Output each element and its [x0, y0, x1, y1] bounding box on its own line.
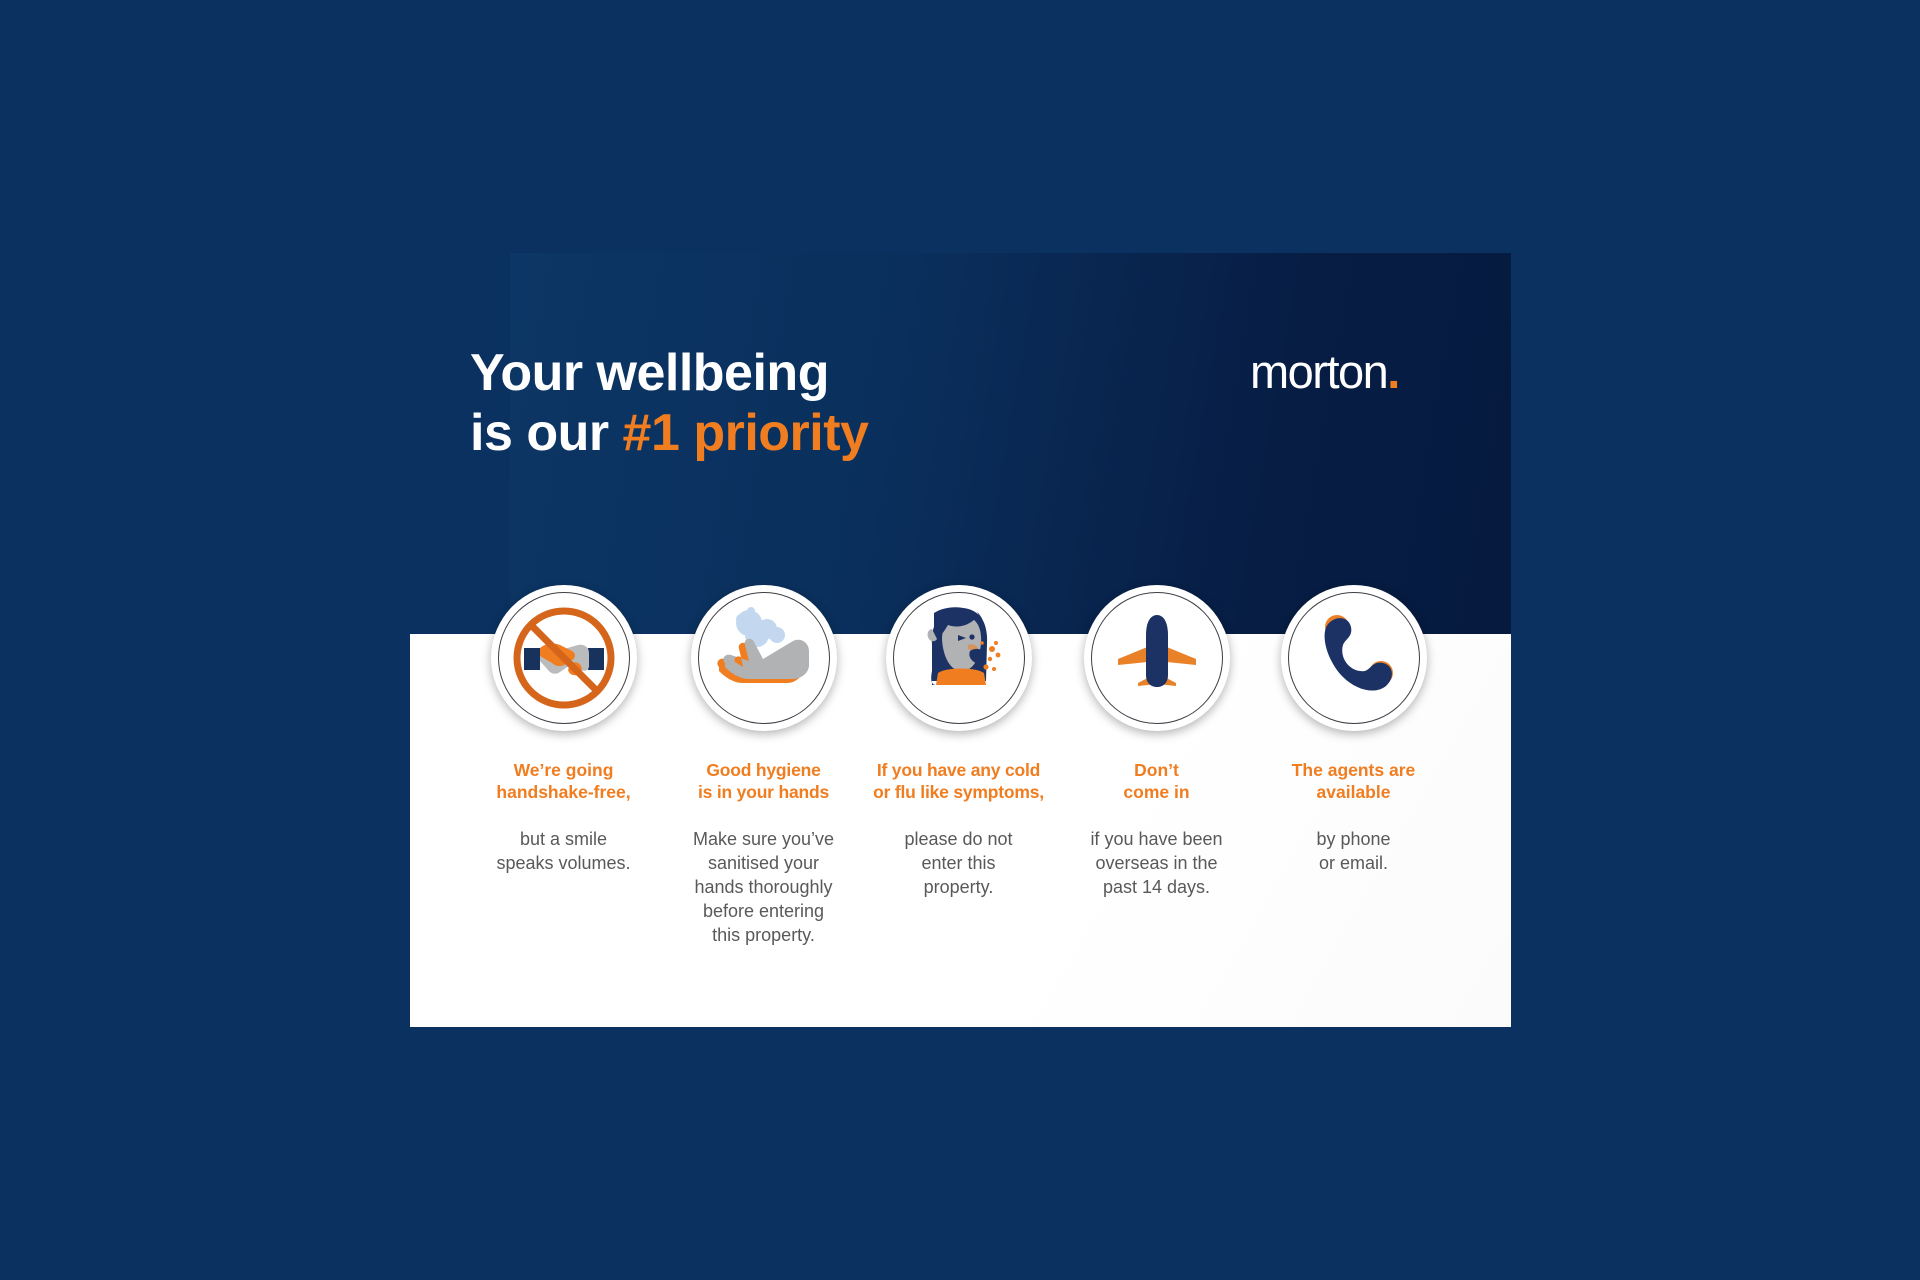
advice-body-line: past 14 days.	[1058, 876, 1255, 900]
icon-badge	[1281, 585, 1427, 731]
advice-body-line: before entering	[665, 900, 862, 924]
phone-handset-icon	[1281, 585, 1427, 731]
wellbeing-poster: Your wellbeing is our #1 priority morton…	[410, 253, 1511, 1027]
advice-item-travel: Don’t come in if you have been overseas …	[1058, 585, 1255, 900]
advice-title: The agents are available	[1255, 759, 1452, 804]
icon-badge	[1084, 585, 1230, 731]
advice-title: If you have any cold or flu like symptom…	[860, 759, 1057, 804]
advice-title-line: We’re going	[465, 759, 662, 781]
icon-badge	[691, 585, 837, 731]
advice-title-line: come in	[1058, 781, 1255, 803]
advice-item-handshake: We’re going handshake-free, but a smile …	[465, 585, 662, 876]
advice-title-line: Don’t	[1058, 759, 1255, 781]
advice-body-line: please do not	[860, 828, 1057, 852]
advice-body-line: or email.	[1255, 852, 1452, 876]
advice-body: but a smile speaks volumes.	[465, 828, 662, 876]
advice-title: Don’t come in	[1058, 759, 1255, 804]
advice-title-line: If you have any cold	[860, 759, 1057, 781]
advice-body: by phone or email.	[1255, 828, 1452, 876]
advice-body: if you have been overseas in the past 14…	[1058, 828, 1255, 900]
airplane-icon	[1084, 585, 1230, 731]
advice-title-line: handshake-free,	[465, 781, 662, 803]
advice-title: We’re going handshake-free,	[465, 759, 662, 804]
advice-items-row: We’re going handshake-free, but a smile …	[410, 253, 1511, 1027]
poster-canvas: Your wellbeing is our #1 priority morton…	[0, 0, 1920, 1280]
advice-title-line: available	[1255, 781, 1452, 803]
sneezing-person-icon	[886, 585, 1032, 731]
advice-body-line: this property.	[665, 924, 862, 948]
icon-badge	[886, 585, 1032, 731]
advice-title-line: or flu like symptoms,	[860, 781, 1057, 803]
no-handshake-icon	[491, 585, 637, 731]
advice-body-line: sanitised your	[665, 852, 862, 876]
advice-item-hygiene: Good hygiene is in your hands Make sure …	[665, 585, 862, 947]
advice-item-symptoms: If you have any cold or flu like symptom…	[860, 585, 1057, 900]
advice-title: Good hygiene is in your hands	[665, 759, 862, 804]
advice-body-line: by phone	[1255, 828, 1452, 852]
advice-body-line: but a smile	[465, 828, 662, 852]
advice-body-line: if you have been	[1058, 828, 1255, 852]
advice-body-line: Make sure you’ve	[665, 828, 862, 852]
advice-body: Make sure you’ve sanitised your hands th…	[665, 828, 862, 948]
advice-item-contact: The agents are available by phone or ema…	[1255, 585, 1452, 876]
advice-body-line: overseas in the	[1058, 852, 1255, 876]
hand-washing-icon	[691, 585, 837, 731]
advice-title-line: Good hygiene	[665, 759, 862, 781]
advice-body-line: property.	[860, 876, 1057, 900]
advice-body: please do not enter this property.	[860, 828, 1057, 900]
advice-body-line: speaks volumes.	[465, 852, 662, 876]
icon-badge	[491, 585, 637, 731]
advice-title-line: is in your hands	[665, 781, 862, 803]
advice-title-line: The agents are	[1255, 759, 1452, 781]
advice-body-line: enter this	[860, 852, 1057, 876]
advice-body-line: hands thoroughly	[665, 876, 862, 900]
